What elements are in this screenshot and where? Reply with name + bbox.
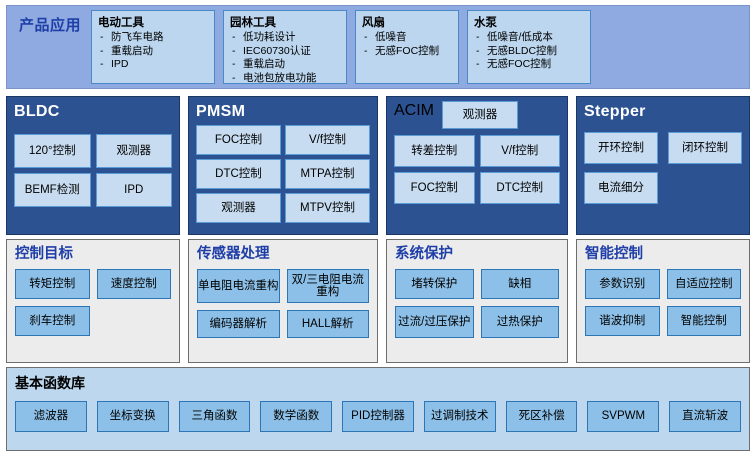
chip-overcurrent-overvoltage-protection[interactable]: 过流/过压保护 xyxy=(395,306,474,338)
list-item: IEC60730认证 xyxy=(230,45,341,59)
card-title: 水泵 xyxy=(474,14,585,30)
chip-phase-loss[interactable]: 缺相 xyxy=(481,269,560,299)
chip-dc-chopping[interactable]: 直流斩波 xyxy=(669,401,741,432)
panel-control-objectives: 控制目标 转矩控制 速度控制 刹车控制 xyxy=(6,239,180,363)
application-card-garden-tools[interactable]: 园林工具 低功耗设计 IEC60730认证 重载启动 电池包放电功能 xyxy=(223,10,347,84)
chip-overmodulation[interactable]: 过调制技术 xyxy=(424,401,496,432)
list-item: 低噪音 xyxy=(362,31,453,45)
panel-title: 基本函数库 xyxy=(15,373,741,393)
chip-slip-control[interactable]: 转差控制 xyxy=(394,135,475,167)
chip-brake-control[interactable]: 刹车控制 xyxy=(15,306,90,336)
chip-120-control[interactable]: 120°控制 xyxy=(14,134,91,168)
chip-adaptive-control[interactable]: 自适应控制 xyxy=(667,269,742,299)
list-item: 低噪音/低成本 xyxy=(474,31,585,45)
panel-system-protection: 系统保护 堵转保护 缺相 过流/过压保护 过热保护 xyxy=(386,239,568,363)
chip-filter[interactable]: 滤波器 xyxy=(15,401,87,432)
panel-title: BLDC xyxy=(14,102,172,122)
product-architecture-diagram: 产品应用 电动工具 防飞车电路 重载启动 IPD 园林工具 低功耗设计 IEC6… xyxy=(0,0,756,456)
panel-stepper: Stepper 开环控制 闭环控制 电流细分 xyxy=(576,96,750,235)
panel-acim: ACIM 观测器 转差控制 V/f控制 FOC控制 DTC控制 xyxy=(386,96,568,235)
chip-pid-controller[interactable]: PID控制器 xyxy=(342,401,414,432)
application-card-power-tools[interactable]: 电动工具 防飞车电路 重载启动 IPD xyxy=(91,10,215,84)
chip-foc-control[interactable]: FOC控制 xyxy=(394,172,475,204)
panel-bldc: BLDC 120°控制 观测器 BEMF检测 IPD xyxy=(6,96,180,235)
list-item: 防飞车电路 xyxy=(98,31,209,45)
panel-title: 控制目标 xyxy=(15,245,171,264)
chip-current-microstepping[interactable]: 电流细分 xyxy=(584,172,658,204)
list-item: 无感FOC控制 xyxy=(474,58,585,72)
chip-vf-control[interactable]: V/f控制 xyxy=(285,125,370,155)
chip-observer[interactable]: 观测器 xyxy=(442,101,518,129)
chip-mtpv-control[interactable]: MTPV控制 xyxy=(285,193,370,223)
chip-vf-control[interactable]: V/f控制 xyxy=(480,135,561,167)
card-item-list: 防飞车电路 重载启动 IPD xyxy=(98,31,209,72)
list-item: 低功耗设计 xyxy=(230,31,341,45)
application-card-fan[interactable]: 风扇 低噪音 无感FOC控制 xyxy=(355,10,459,84)
chip-math-functions[interactable]: 数学函数 xyxy=(260,401,332,432)
chip-harmonic-suppression[interactable]: 谐波抑制 xyxy=(585,306,660,336)
chip-open-loop-control[interactable]: 开环控制 xyxy=(584,132,658,164)
card-item-list: 低噪音 无感FOC控制 xyxy=(362,31,453,58)
chip-hall-parsing[interactable]: HALL解析 xyxy=(287,310,370,338)
chip-mtpa-control[interactable]: MTPA控制 xyxy=(285,159,370,189)
library-chip-list: 滤波器 坐标变换 三角函数 数学函数 PID控制器 过调制技术 死区补偿 SVP… xyxy=(15,401,741,432)
panel-title: PMSM xyxy=(196,102,370,122)
card-title: 风扇 xyxy=(362,14,453,30)
chip-ipd[interactable]: IPD xyxy=(96,173,173,207)
list-item: 重载启动 xyxy=(98,45,209,59)
chip-observer[interactable]: 观测器 xyxy=(96,134,173,168)
chip-closed-loop-control[interactable]: 闭环控制 xyxy=(668,132,742,164)
panel-pmsm: PMSM FOC控制 V/f控制 DTC控制 MTPA控制 观测器 MTPV控制 xyxy=(188,96,378,235)
chip-torque-control[interactable]: 转矩控制 xyxy=(15,269,90,299)
chip-coordinate-transform[interactable]: 坐标变换 xyxy=(97,401,169,432)
chip-parameter-identification[interactable]: 参数识别 xyxy=(585,269,660,299)
application-card-list: 电动工具 防飞车电路 重载启动 IPD 园林工具 低功耗设计 IEC60730认… xyxy=(91,6,591,84)
chip-deadtime-compensation[interactable]: 死区补偿 xyxy=(506,401,578,432)
list-item: 无感BLDC控制 xyxy=(474,45,585,59)
panel-sensor-processing: 传感器处理 单电阻电流重构 双/三电阻电流重构 编码器解析 HALL解析 xyxy=(188,239,378,363)
chip-foc-control[interactable]: FOC控制 xyxy=(196,125,281,155)
chip-dual-triple-shunt-current-reconstruction[interactable]: 双/三电阻电流重构 xyxy=(287,269,370,303)
chip-trigonometric-functions[interactable]: 三角函数 xyxy=(179,401,251,432)
panel-intelligent-control: 智能控制 参数识别 自适应控制 谐波抑制 智能控制 xyxy=(576,239,750,363)
banner-title: 产品应用 xyxy=(7,6,91,35)
chip-single-shunt-current-reconstruction[interactable]: 单电阻电流重构 xyxy=(197,269,280,303)
card-title: 电动工具 xyxy=(98,14,209,30)
list-item: 重载启动 xyxy=(230,58,341,72)
chip-bemf-detect[interactable]: BEMF检测 xyxy=(14,173,91,207)
chip-stall-protection[interactable]: 堵转保护 xyxy=(395,269,474,299)
card-item-list: 低噪音/低成本 无感BLDC控制 无感FOC控制 xyxy=(474,31,585,72)
list-item: IPD xyxy=(98,58,209,72)
panel-title: 智能控制 xyxy=(585,245,741,264)
card-item-list: 低功耗设计 IEC60730认证 重载启动 电池包放电功能 xyxy=(230,31,341,85)
chip-speed-control[interactable]: 速度控制 xyxy=(97,269,172,299)
chip-dtc-control[interactable]: DTC控制 xyxy=(480,172,561,204)
panel-title: 系统保护 xyxy=(395,245,559,264)
card-title: 园林工具 xyxy=(230,14,341,30)
function-panel-row: 控制目标 转矩控制 速度控制 刹车控制 传感器处理 单电阻电流重构 双/三电阻电… xyxy=(6,239,750,363)
chip-encoder-parsing[interactable]: 编码器解析 xyxy=(197,310,280,338)
panel-title: Stepper xyxy=(584,102,742,122)
product-application-banner: 产品应用 电动工具 防飞车电路 重载启动 IPD 园林工具 低功耗设计 IEC6… xyxy=(6,5,750,89)
list-item: 电池包放电功能 xyxy=(230,72,341,86)
list-item: 无感FOC控制 xyxy=(362,45,453,59)
panel-title: 传感器处理 xyxy=(197,245,369,264)
panel-basic-function-library: 基本函数库 滤波器 坐标变换 三角函数 数学函数 PID控制器 过调制技术 死区… xyxy=(6,367,750,451)
chip-svpwm[interactable]: SVPWM xyxy=(587,401,659,432)
chip-dtc-control[interactable]: DTC控制 xyxy=(196,159,281,189)
panel-title: ACIM xyxy=(394,102,434,120)
chip-intelligent-control[interactable]: 智能控制 xyxy=(667,306,742,336)
chip-overheat-protection[interactable]: 过热保护 xyxy=(481,306,560,338)
motor-control-panel-row: BLDC 120°控制 观测器 BEMF检测 IPD PMSM FOC控制 V/… xyxy=(6,96,750,235)
application-card-water-pump[interactable]: 水泵 低噪音/低成本 无感BLDC控制 无感FOC控制 xyxy=(467,10,591,84)
chip-observer[interactable]: 观测器 xyxy=(196,193,281,223)
